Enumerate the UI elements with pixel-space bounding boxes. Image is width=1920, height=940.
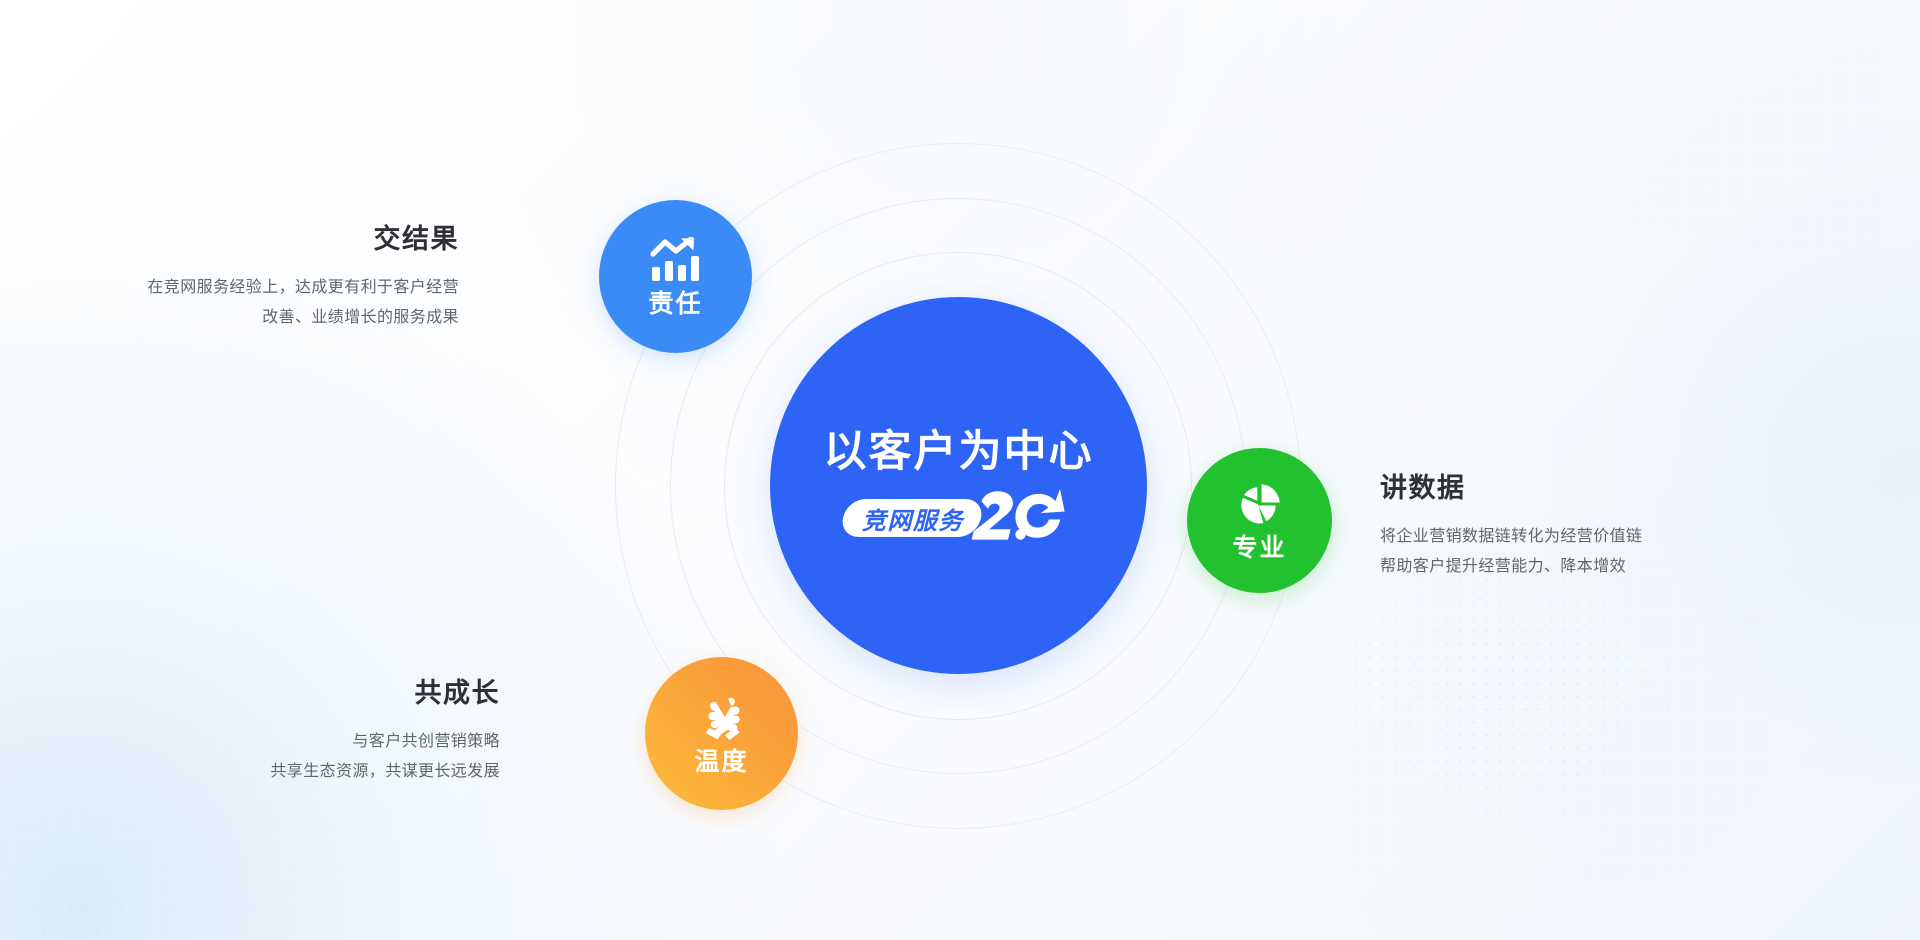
pie-chart-icon <box>1237 481 1283 532</box>
node-warmth[interactable]: 温度 <box>645 657 798 810</box>
hero-title: 以客户为中心 <box>824 431 1094 474</box>
text-block-grow-line-1: 与客户共创营销策略 <box>80 727 500 757</box>
text-block-deliver-line-2: 改善、业绩增长的服务成果 <box>0 303 459 333</box>
text-block-deliver: 交结果 在竞网服务经验上，达成更有利于客户经营 改善、业绩增长的服务成果 <box>0 226 459 333</box>
text-block-data-line-2: 帮助客户提升经营能力、降本增效 <box>1380 552 1850 582</box>
text-block-deliver-line-1: 在竞网服务经验上，达成更有利于客户经营 <box>0 273 459 303</box>
node-professional[interactable]: 专业 <box>1187 448 1332 593</box>
text-block-data-line-1: 将企业营销数据链转化为经营价值链 <box>1380 522 1850 552</box>
badge-pill-label: 竞网服务 <box>862 500 964 535</box>
growth-bar-chart-icon <box>650 237 702 288</box>
dot-grid-texture-right <box>1350 560 1770 890</box>
service-version-badge: 竞网服务 <box>843 495 1075 541</box>
node-responsibility-label: 责任 <box>648 292 702 317</box>
text-block-data-title: 讲数据 <box>1380 475 1850 502</box>
text-block-data: 讲数据 将企业营销数据链转化为经营价值链 帮助客户提升经营能力、降本增效 <box>1380 475 1850 582</box>
dot-grid-texture-top-right <box>1580 30 1880 250</box>
version-2-0-mark <box>967 489 1075 547</box>
node-warmth-label: 温度 <box>694 750 748 775</box>
text-block-grow: 共成长 与客户共创营销策略 共享生态资源，共谋更长远发展 <box>80 680 500 787</box>
center-hero-circle: 以客户为中心 竞网服务 <box>770 297 1147 674</box>
node-responsibility[interactable]: 责任 <box>599 200 752 353</box>
diagram-canvas: 以客户为中心 竞网服务 <box>0 0 1920 940</box>
text-block-grow-line-2: 共享生态资源，共谋更长远发展 <box>80 757 500 787</box>
text-block-deliver-title: 交结果 <box>0 226 459 253</box>
node-professional-label: 专业 <box>1232 536 1286 561</box>
text-block-grow-title: 共成长 <box>80 680 500 707</box>
badge-pill: 竞网服务 <box>839 499 984 537</box>
clasped-hands-icon <box>696 693 748 746</box>
